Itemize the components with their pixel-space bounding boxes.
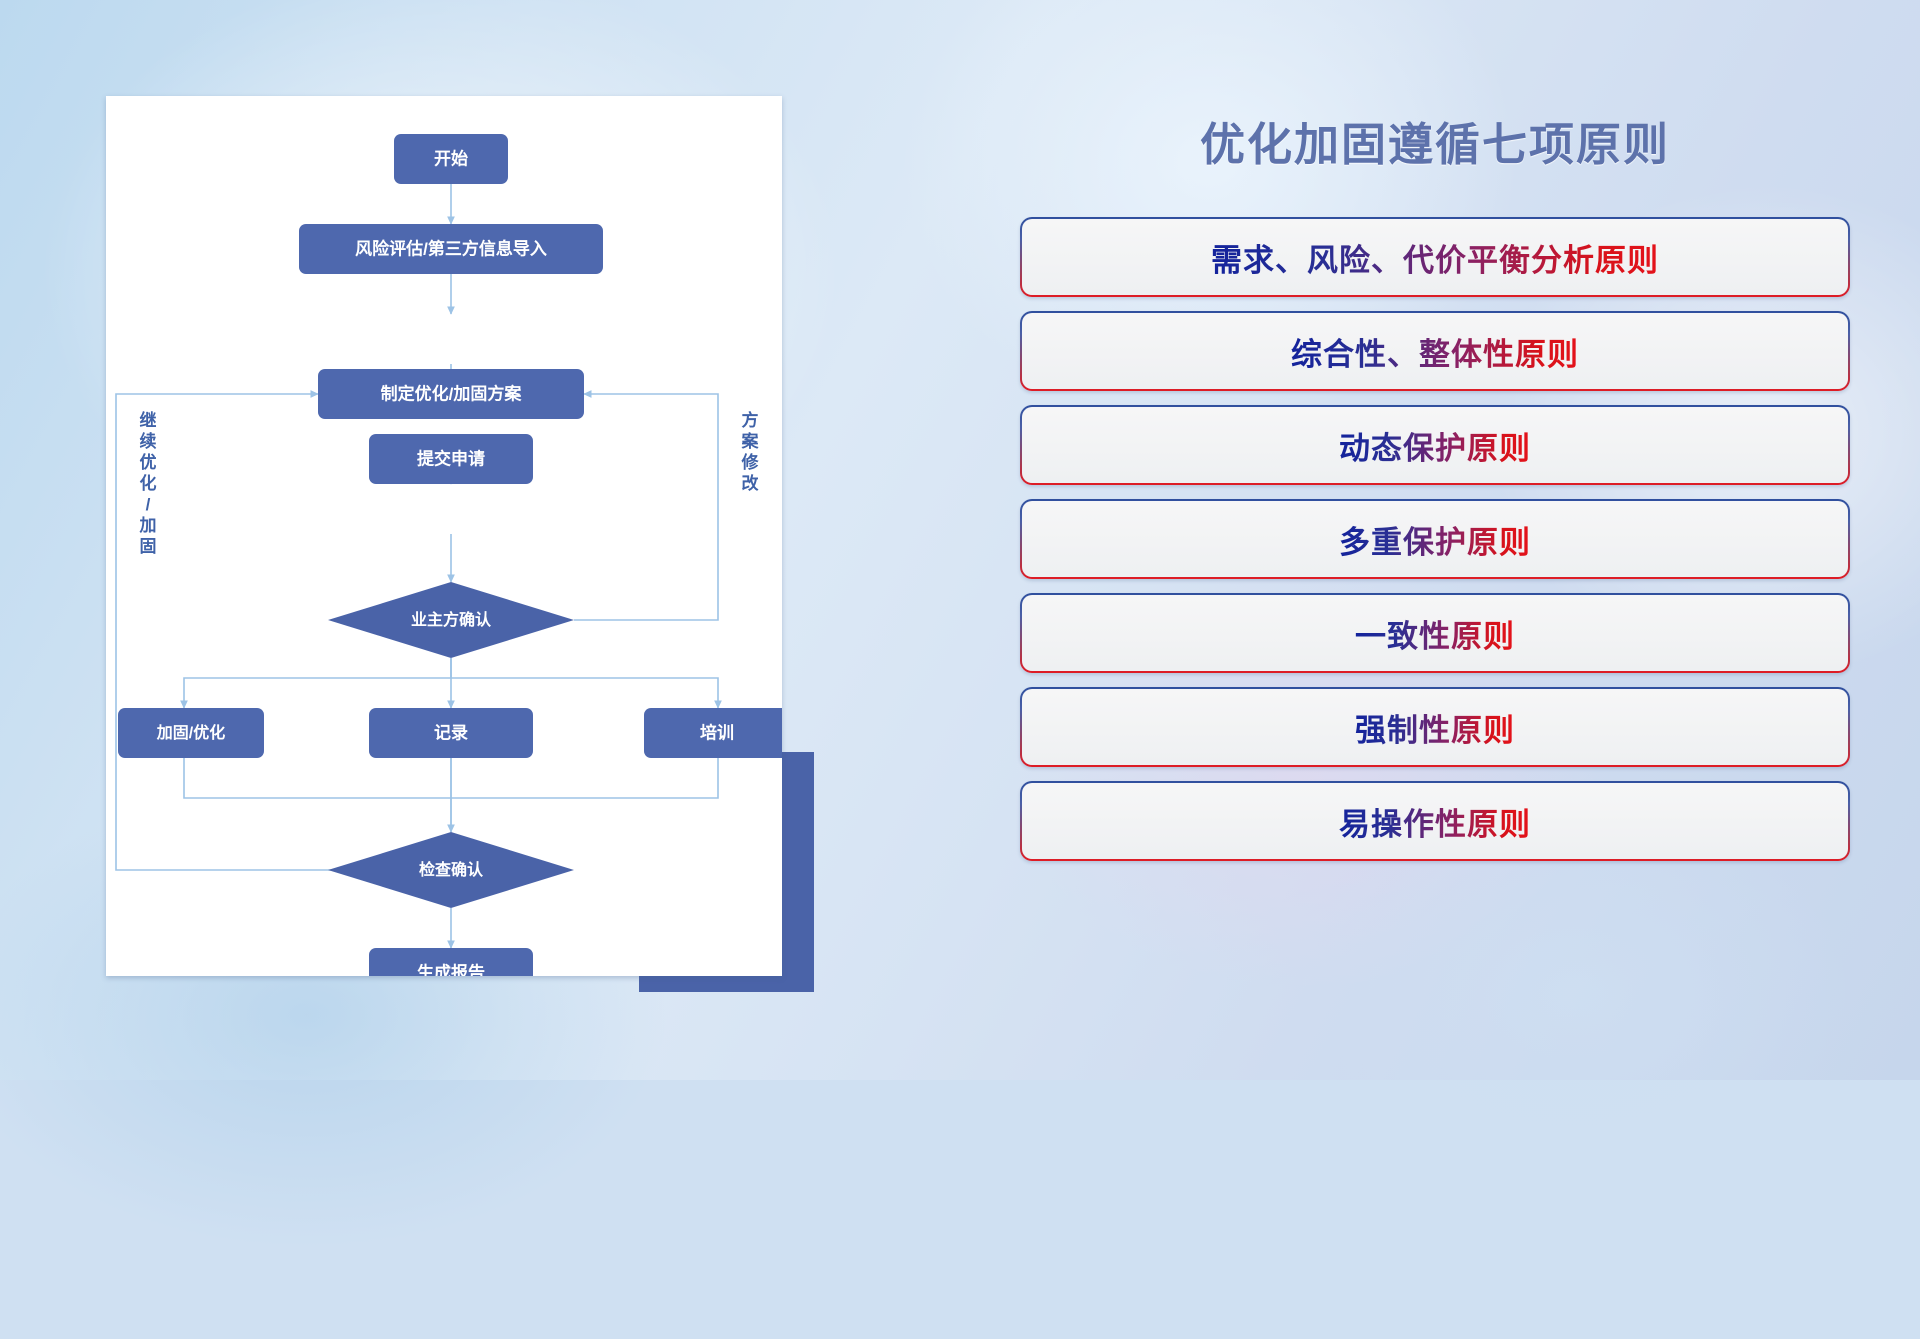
flow-node-train-label: 培训: [700, 722, 734, 742]
principle-item-7-label: 易操作性原则: [1339, 799, 1531, 844]
flow-node-train: 培训: [644, 708, 782, 758]
principle-item-2-body: 综合性、整体性原则: [1022, 313, 1848, 389]
flow-node-plan: 制定优化/加固方案: [318, 369, 584, 419]
principle-item-1-label: 需求、风险、代价平衡分析原则: [1211, 235, 1659, 280]
flow-node-check: 检查确认: [328, 832, 574, 908]
flow-node-record: 记录: [369, 708, 533, 758]
flow-node-owner-confirm-label: 业主方确认: [411, 610, 492, 629]
flow-node-record-label: 记录: [434, 723, 468, 742]
flowchart-card: 开始 风险评估/第三方信息导入 制定优化/加固方案 提交申请 业主方确认 加固/…: [106, 96, 782, 976]
flow-node-reinforce-label: 加固/优化: [156, 723, 225, 742]
principle-item-3-body: 动态保护原则: [1022, 407, 1848, 483]
principle-item-5-label: 一致性原则: [1355, 611, 1515, 656]
flowchart-diagram: 开始 风险评估/第三方信息导入 制定优化/加固方案 提交申请 业主方确认 加固/…: [106, 96, 782, 976]
principle-item-7[interactable]: 易操作性原则: [1020, 781, 1850, 861]
principles-list: 需求、风险、代价平衡分析原则 综合性、整体性原则 动态保护原则 多重保护原则 一…: [1020, 217, 1850, 861]
principle-item-3[interactable]: 动态保护原则: [1020, 405, 1850, 485]
principle-item-6-body: 强制性原则: [1022, 689, 1848, 765]
flow-node-start-label: 开始: [434, 148, 468, 168]
principle-item-2[interactable]: 综合性、整体性原则: [1020, 311, 1850, 391]
principle-item-2-label: 综合性、整体性原则: [1291, 329, 1579, 374]
principle-item-1-body: 需求、风险、代价平衡分析原则: [1022, 219, 1848, 295]
principle-item-4-label: 多重保护原则: [1339, 517, 1531, 562]
principle-item-6[interactable]: 强制性原则: [1020, 687, 1850, 767]
flow-node-owner-confirm: 业主方确认: [328, 582, 574, 658]
flow-node-reinforce: 加固/优化: [118, 708, 264, 758]
principle-item-4[interactable]: 多重保护原则: [1020, 499, 1850, 579]
flow-node-start: 开始: [394, 134, 508, 184]
flow-node-check-label: 检查确认: [419, 860, 484, 879]
flow-node-submit-label: 提交申请: [417, 448, 485, 468]
principles-panel: 优化加固遵循七项原则 需求、风险、代价平衡分析原则 综合性、整体性原则 动态保护…: [1020, 96, 1850, 996]
principle-item-4-body: 多重保护原则: [1022, 501, 1848, 577]
page-title: 优化加固遵循七项原则: [1020, 108, 1850, 173]
flow-edge-label-plan-revision: 方案修改: [741, 410, 760, 493]
principle-item-1[interactable]: 需求、风险、代价平衡分析原则: [1020, 217, 1850, 297]
flow-node-report: 生成报告: [369, 948, 533, 976]
principle-item-7-body: 易操作性原则: [1022, 783, 1848, 859]
flow-connectors-plain: [184, 758, 718, 832]
flow-node-risk: 风险评估/第三方信息导入: [299, 224, 603, 274]
flow-node-risk-label: 风险评估/第三方信息导入: [355, 238, 547, 258]
flow-edge-label-continue-optimize: 继续优化/加固: [139, 410, 157, 556]
flow-node-report-label: 生成报告: [417, 962, 485, 976]
flow-node-submit: 提交申请: [369, 434, 533, 484]
principle-item-5[interactable]: 一致性原则: [1020, 593, 1850, 673]
principle-item-6-label: 强制性原则: [1355, 705, 1515, 750]
principle-item-5-body: 一致性原则: [1022, 595, 1848, 671]
principle-item-3-label: 动态保护原则: [1339, 423, 1531, 468]
flow-node-plan-label: 制定优化/加固方案: [381, 383, 523, 403]
